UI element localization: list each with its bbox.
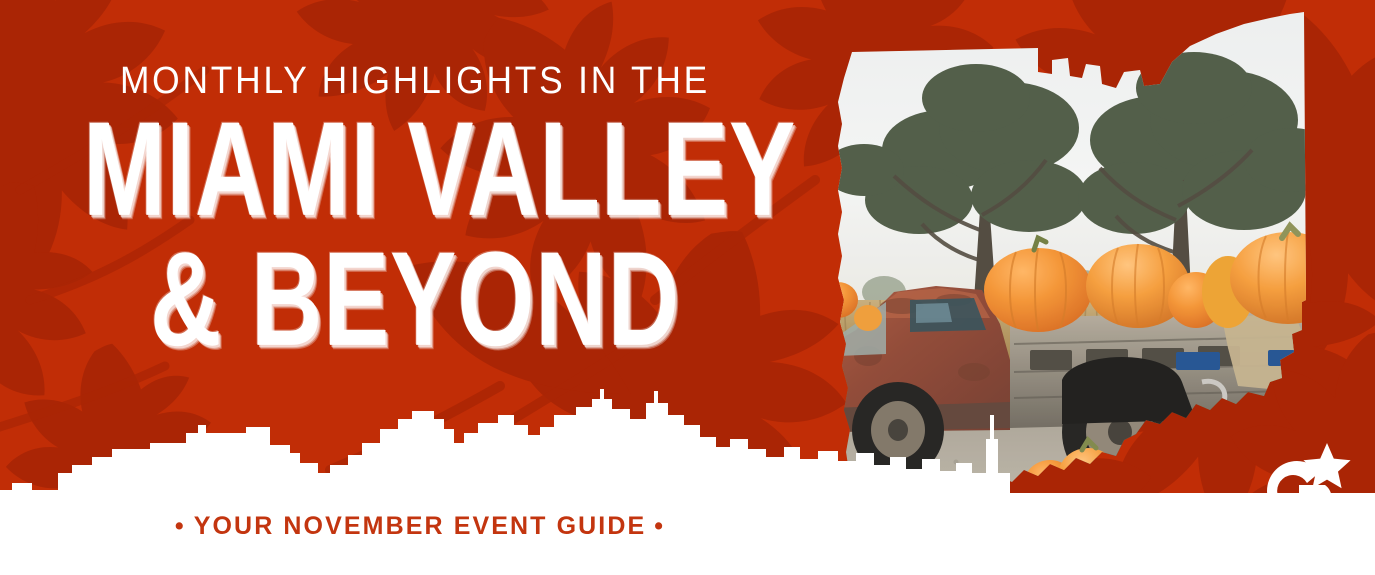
event-guide-subtitle: •YOUR NOVEMBER EVENT GUIDE• [0,514,840,539]
bullet-right-icon: • [646,512,673,540]
bullet-left-icon: • [167,512,194,540]
headline-line-2: & BEYOND [83,238,747,361]
headline-group: MONTHLY HIGHLIGHTS IN THE MIAMI VALLEY &… [0,0,830,420]
headline-line-1: MIAMI VALLEY [83,108,747,231]
letter-b [1299,485,1333,539]
event-guide-banner: MONTHLY HIGHLIGHTS IN THE MIAMI VALLEY &… [0,0,1375,575]
coldwell-banker-logo[interactable] [1241,439,1353,547]
subtitle-text: YOUR NOVEMBER EVENT GUIDE [194,512,647,540]
